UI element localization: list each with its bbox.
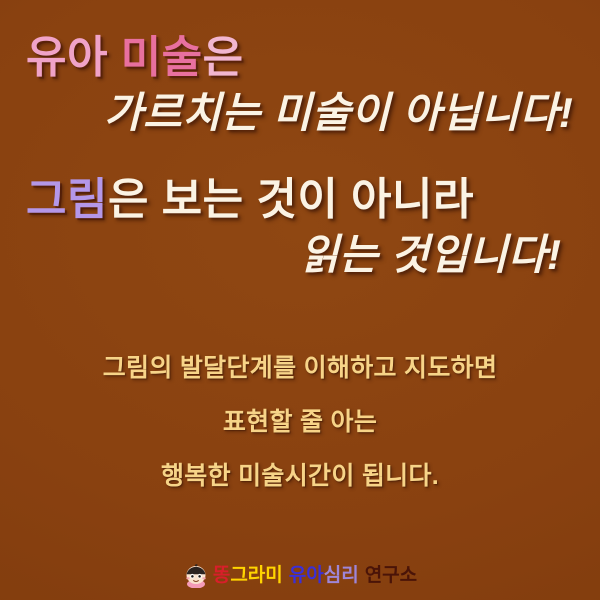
body-line-2: 표현할 줄 아는: [0, 410, 600, 435]
headline-2-line-2: 읽는 것입니다!: [0, 234, 600, 276]
headline-2-run-1: 그림: [26, 175, 108, 224]
baby-mascot-icon: [183, 562, 209, 588]
headline-1-line-2-text: 가르치는 미술이 아닙니다!: [104, 89, 573, 136]
headline-block-2: 그림은 보는 것이 아니라 읽는 것입니다!: [0, 178, 600, 276]
footer-logo-run-3: 유아: [289, 565, 324, 586]
body-paragraph: 그림의 발달단계를 이해하고 지도하면 표현할 줄 아는 행복한 미술시간이 됩…: [0, 356, 600, 489]
headline-2-run-2: 은 보는 것이 아니라: [108, 175, 474, 224]
headline-2-line-1: 그림은 보는 것이 아니라: [0, 178, 600, 222]
footer-logo-run-4: 심리: [324, 565, 359, 586]
headline-2-line-2-text: 읽는 것입니다!: [300, 231, 562, 278]
body-line-3: 행복한 미술시간이 됩니다.: [0, 464, 600, 489]
poster-canvas: 유아 미술은 가르치는 미술이 아닙니다! 그림은 보는 것이 아니라 읽는 것…: [0, 0, 600, 600]
headline-1-line-1: 유아 미술은: [0, 36, 600, 80]
headline-1-run-3: 은: [203, 33, 244, 82]
headline-1-run-2: 미술: [121, 33, 203, 82]
footer-logo-run-5: 연구소: [365, 565, 417, 586]
headline-block-1: 유아 미술은 가르치는 미술이 아닙니다!: [0, 36, 600, 134]
footer-logo: 똥그라미유아심리연구소: [0, 562, 600, 588]
footer-logo-run-1: 똥: [213, 565, 230, 586]
body-line-1: 그림의 발달단계를 이해하고 지도하면: [0, 356, 600, 381]
footer-logo-run-2: 그라미: [230, 565, 282, 586]
headline-1-run-1: 유아: [26, 33, 121, 82]
headline-1-line-2: 가르치는 미술이 아닙니다!: [0, 92, 600, 134]
footer-logo-text: 똥그라미유아심리연구소: [213, 566, 417, 585]
